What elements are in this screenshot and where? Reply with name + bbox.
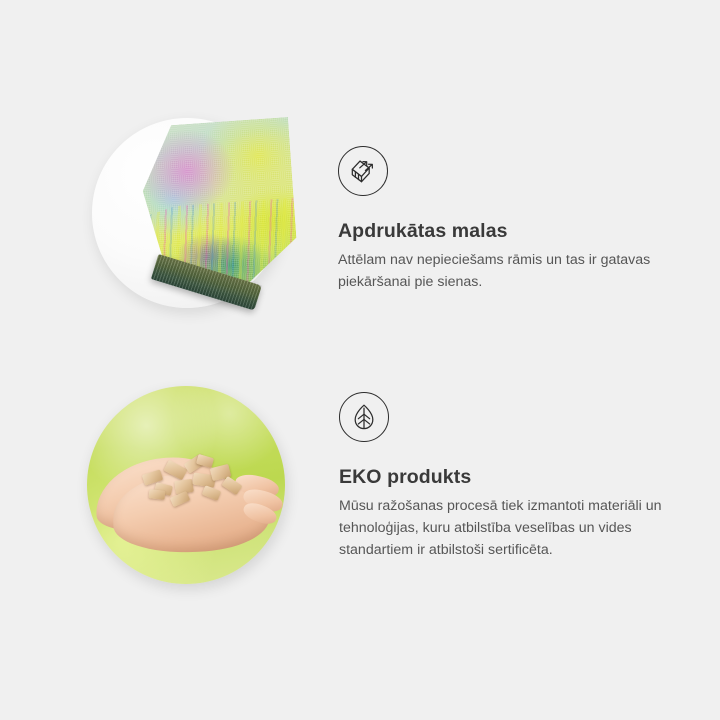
feature-title: EKO produkts: [339, 466, 720, 489]
feature-title: Apdrukātas malas: [338, 220, 720, 243]
canvas-print-corner-photo: [92, 118, 284, 336]
canvas-wrapped-edge-glyph: [348, 156, 378, 186]
feature-text-printed-edges: Apdrukātas malas Attēlam nav nepieciešam…: [284, 118, 720, 294]
feature-text-eco-product: EKO produkts Mūsu ražošanas procesā tiek…: [285, 386, 720, 561]
feature-description: Attēlam nav nepieciešams rāmis un tas ir…: [338, 250, 672, 293]
leaf-icon: [339, 392, 389, 442]
feature-block-printed-edges: Apdrukātas malas Attēlam nav nepieciešam…: [0, 118, 720, 336]
grass-background: [87, 386, 285, 584]
canvas-print-corner: [138, 117, 299, 295]
hands-illustration: [89, 452, 285, 556]
feature-infographic: Apdrukātas malas Attēlam nav nepieciešam…: [0, 0, 720, 720]
canvas-wrapped-edge-icon: [338, 146, 388, 196]
wood-chips-pile: [141, 454, 245, 510]
hands-holding-wood-chips-photo: [87, 386, 285, 586]
feature-description: Mūsu ražošanas procesā tiek izmantoti ma…: [339, 496, 673, 561]
leaf-glyph: [349, 402, 379, 432]
feature-block-eco-product: EKO produkts Mūsu ražošanas procesā tiek…: [0, 386, 720, 586]
